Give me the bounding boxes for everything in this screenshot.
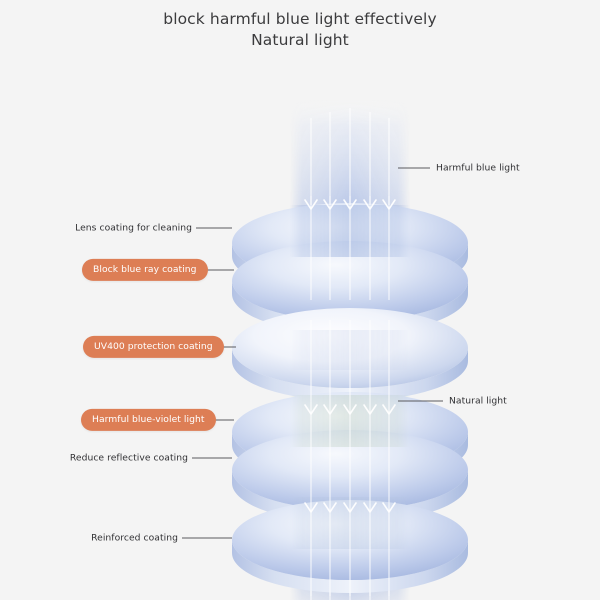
label-natural-light: Natural light xyxy=(449,396,507,407)
badge-harmful-blue-violet-light[interactable]: Harmful blue-violet light xyxy=(81,409,216,431)
lens-stack-diagram xyxy=(0,0,600,600)
label-reinforced-coating: Reinforced coating xyxy=(91,533,178,544)
label-reduce-reflective-coating: Reduce reflective coating xyxy=(70,453,188,464)
badge-uv400-protection-coating[interactable]: UV400 protection coating xyxy=(83,336,224,358)
label-harmful-blue-light: Harmful blue light xyxy=(436,163,520,174)
label-lens-coating-for-cleaning: Lens coating for cleaning xyxy=(75,223,192,234)
illustration-canvas: block harmful blue light effectively Nat… xyxy=(0,0,600,600)
badge-block-blue-ray-coating[interactable]: Block blue ray coating xyxy=(82,259,208,281)
